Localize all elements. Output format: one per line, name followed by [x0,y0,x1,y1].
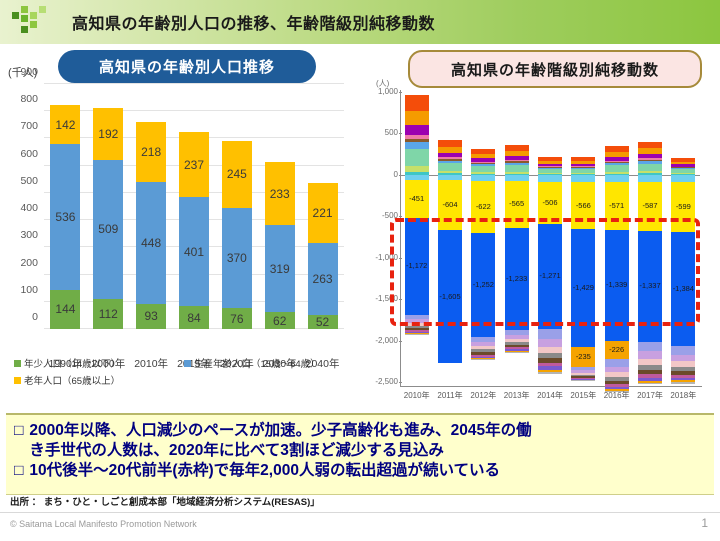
left-chart-segment: 93 [136,304,166,329]
right-chart-segment [438,140,462,147]
left-chart-bar: 23740184 [179,132,209,329]
green-squares-logo-icon [12,6,52,40]
left-chart-y-tick: 500 [0,175,38,187]
footer-page-number: 1 [701,516,708,530]
left-chart-segment: 52 [308,315,338,329]
right-chart-segment [638,383,662,385]
left-chart-value-label: 536 [55,210,75,224]
left-chart-bar: 192509112 [93,108,123,329]
right-chart-segment: -451 [405,180,429,217]
left-chart-population-by-age: (千人) 01002003004005006007008009001425361… [0,60,360,405]
legend-swatch-icon [14,377,21,384]
right-chart-value-label: -451 [405,194,429,203]
slide-header: 高知県の年齢別人口の推移、年齢階級別純移動数 [0,0,720,44]
left-chart-value-label: 93 [144,309,157,323]
right-chart-value-label: -226 [605,345,629,354]
left-chart-value-label: 370 [227,251,247,265]
right-chart-segment [671,175,695,182]
right-chart-value-label: -1,429 [571,283,595,292]
right-chart-segment: -506 [538,182,562,224]
note-bullet-icon: □ [14,421,23,441]
right-chart-bar-negative: -566-1,429-235 [571,175,595,381]
left-chart-bar: 24537076 [222,141,252,329]
left-chart-y-tick: 100 [0,284,38,296]
right-chart-segment [405,95,429,111]
left-chart-value-label: 263 [313,272,333,286]
left-chart-segment: 192 [93,108,123,160]
right-chart-segment [571,175,595,182]
note-line-1: □ 2000年以降、人口減少のペースが加速。少子高齢化も進み、2045年の働 [14,421,706,441]
right-chart-value-label: -587 [638,201,662,210]
right-chart-segment: -1,605 [438,230,462,363]
right-chart-bar-negative: -599-1,384 [671,175,695,384]
left-chart-legend-label: 年少人口（14歳以下） [24,356,120,370]
right-chart-value-label: -506 [538,198,562,207]
right-chart-y-tick: -500 [362,211,398,220]
left-chart-value-label: 233 [270,187,290,201]
right-chart-y-tick: 1,000 [362,87,398,96]
right-chart-segment [405,111,429,125]
right-chart-y-tick: -1,000 [362,253,398,262]
right-chart-segment: -235 [571,347,595,366]
right-chart-bar-positive [438,140,462,175]
right-chart-bar-negative: -604-1,605 [438,175,462,327]
left-chart-legend-label: 老年人口（65歳以上） [24,373,120,387]
left-chart-value-label: 142 [55,118,75,132]
right-chart-value-label: -599 [671,202,695,211]
right-chart-segment: -1,429 [571,229,595,347]
right-chart-segment [538,329,562,339]
right-chart-segment [538,175,562,182]
left-chart-segment: 509 [93,160,123,299]
right-chart-value-label: -566 [571,201,595,210]
right-chart-value-label: -604 [438,200,462,209]
right-chart-segment [671,382,695,383]
left-chart-y-tick: 300 [0,229,38,241]
right-chart-segment [405,334,429,335]
left-chart-value-label: 84 [187,311,200,325]
left-chart-value-label: 76 [230,312,243,326]
left-chart-bar: 22126352 [308,183,338,329]
note-line-3: □ 10代後半～20代前半(赤枠)で毎年2,000人弱の転出超過が続いている [14,461,706,481]
right-chart-value-label: -1,172 [405,261,429,270]
right-chart-y-tick: -2,500 [362,377,398,386]
left-chart-value-label: 218 [141,145,161,159]
right-chart-bar-positive [471,149,495,175]
left-chart-gridline [44,110,344,111]
left-chart-value-label: 192 [98,127,118,141]
left-chart-y-tick: 400 [0,202,38,214]
right-chart-segment [571,380,595,381]
left-chart-legend-item: 老年人口（65歳以上） [14,373,184,387]
page-title: 高知県の年齢別人口の推移、年齢階級別純移動数 [72,10,435,34]
left-chart-value-label: 112 [99,307,118,321]
left-chart-value-label: 509 [98,222,118,236]
source-text: 出所 ： まち・ひと・しごと創成本部「地域経済分析システム(RESAS)」 [10,494,320,508]
left-chart-legend-row: 老年人口（65歳以上） [14,373,354,387]
right-chart-segment: -1,384 [671,232,695,347]
left-chart-legend-item: 生産年齢人口（15歳～64歳） [184,356,344,370]
left-chart-segment: 263 [308,243,338,315]
left-chart-value-label: 62 [273,314,286,328]
note-text-3: 10代後半～20代前半(赤枠)で毎年2,000人弱の転出超過が続いている [29,461,500,481]
left-chart-y-tick: 900 [0,66,38,78]
right-chart-value-label: -1,233 [505,274,529,283]
right-chart-segment [638,351,662,359]
left-chart-segment: 233 [265,162,295,225]
legend-swatch-icon [14,360,21,367]
right-chart-segment: -604 [438,180,462,230]
right-chart-segment [505,352,529,353]
right-chart-segment [538,339,562,347]
left-chart-segment: 448 [136,182,166,304]
slide-footer: © Saitama Local Manifesto Promotion Netw… [0,512,720,541]
right-chart-y-tick: -2,000 [362,336,398,345]
right-chart-segment: -1,233 [505,228,529,330]
left-chart-segment: 319 [265,225,295,312]
right-chart-segment: -226 [605,341,629,360]
right-chart-segment: -587 [638,182,662,231]
right-chart-y-tick: 500 [362,128,398,137]
right-chart-bar-negative: -565-1,233 [505,175,529,353]
right-chart-bar-positive [605,146,629,175]
right-chart-value-label: -1,339 [605,280,629,289]
right-chart-bar-positive [538,157,562,175]
right-chart-segment: -1,252 [471,233,495,337]
right-chart-segment [538,372,562,374]
footer-copyright: © Saitama Local Manifesto Promotion Netw… [10,519,197,529]
right-chart-segment [638,175,662,182]
right-chart-bar-negative: -587-1,337 [638,175,662,385]
right-chart-value-label: -1,605 [438,292,462,301]
right-chart-segment: -1,337 [638,231,662,342]
note-text-2: き手世代の人数は、2020年に比べて3割ほど減少する見込み [29,441,443,461]
right-chart-segment [438,163,462,171]
right-chart-y-tick: -1,500 [362,294,398,303]
right-chart-x-tick: 2018年 [663,390,703,401]
right-chart-segment [471,359,495,360]
left-chart-bar: 21844893 [136,122,166,329]
left-chart-segment: 62 [265,312,295,329]
right-chart-value-label: -1,271 [538,271,562,280]
right-chart-segment [671,346,695,354]
left-chart-segment: 370 [222,208,252,309]
right-chart-bar-positive [671,158,695,175]
right-chart-bar-negative: -622-1,252 [471,175,495,361]
right-chart-segment: -1,172 [405,218,429,315]
right-chart-bar-positive [571,157,595,175]
left-chart-segment: 221 [308,183,338,243]
left-chart-y-tick: 800 [0,93,38,105]
left-chart-segment: 112 [93,299,123,329]
left-chart-segment: 144 [50,290,80,329]
right-chart-bar-positive [638,142,662,175]
right-chart-segment: -571 [605,182,629,229]
left-chart-segment: 84 [179,306,209,329]
right-chart-segment [605,359,629,366]
left-chart-value-label: 52 [316,315,329,329]
left-chart-bar: 142536144 [50,105,80,329]
left-chart-y-tick: 600 [0,148,38,160]
left-chart-bar: 23331962 [265,162,295,329]
right-chart-value-label: -235 [571,352,595,361]
summary-note-box: □ 2000年以降、人口減少のペースが加速。少子高齢化も進み、2045年の働 □… [6,413,714,495]
left-chart-legend-item: 年少人口（14歳以下） [14,356,174,370]
right-chart-segment: -622 [471,181,495,233]
right-chart-bar-negative: -451-1,172 [405,175,429,335]
left-chart-segment: 237 [179,132,209,197]
legend-swatch-icon [184,360,191,367]
right-chart-value-label: -1,384 [671,284,695,293]
left-chart-value-label: 319 [270,262,290,276]
right-chart-value-label: -622 [471,202,495,211]
left-chart-y-tick: 200 [0,257,38,269]
left-chart-segment: 76 [222,308,252,329]
left-chart-y-tick: 700 [0,120,38,132]
right-chart-bar-positive [505,145,529,175]
right-chart-segment: -1,271 [538,224,562,329]
left-chart-plot-area: 0100200300400500600700800900142536144199… [44,84,344,329]
left-chart-segment: 536 [50,144,80,290]
left-chart-value-label: 144 [55,302,75,316]
right-chart-value-label: -1,337 [638,281,662,290]
note-bullet-icon-2: □ [14,461,23,481]
right-chart-value-label: -571 [605,201,629,210]
left-chart-value-label: 221 [313,206,333,220]
right-chart-segment [638,164,662,171]
right-chart-segment: -1,339 [605,230,629,341]
left-chart-value-label: 401 [184,245,204,259]
right-chart-segment [405,149,429,166]
left-chart-legend-label: 生産年齢人口（15歳～64歳） [194,356,320,370]
note-line-2: □ き手世代の人数は、2020年に比べて3割ほど減少する見込み [14,441,706,461]
right-chart-value-label: -565 [505,199,529,208]
right-chart-segment [638,342,662,351]
note-text-1: 2000年以降、人口減少のペースが加速。少子高齢化も進み、2045年の働 [29,421,531,441]
left-chart-value-label: 448 [141,236,161,250]
left-chart-value-label: 237 [184,158,204,172]
right-chart-value-label: -1,252 [471,280,495,289]
right-chart-y-tick: 0 [362,170,398,179]
left-chart-segment: 245 [222,141,252,208]
right-chart-bar-negative: -571-1,339-226 [605,175,629,392]
right-chart-bar-positive [405,95,429,175]
left-chart-segment: 401 [179,197,209,306]
right-chart-segment [405,125,429,135]
right-chart-segment [605,175,629,183]
left-chart-y-tick: 0 [0,311,38,323]
right-chart-net-migration-by-age: (人) 1,0005000-500-1,000-1,500-2,000-2,50… [360,60,720,405]
right-chart-x-axis-line [400,386,702,387]
right-chart-bar-negative: -506-1,271 [538,175,562,374]
right-chart-segment [638,142,662,149]
left-chart-legend: 年少人口（14歳以下）生産年齢人口（15歳～64歳）老年人口（65歳以上） [14,356,354,390]
right-chart-plot-area: 1,0005000-500-1,000-1,500-2,000-2,500-45… [400,92,700,382]
left-chart-segment: 142 [50,105,80,144]
right-chart-segment: -565 [505,181,529,228]
left-chart-legend-row: 年少人口（14歳以下）生産年齢人口（15歳～64歳） [14,356,354,370]
left-chart-value-label: 245 [227,167,247,181]
right-chart-segment [671,355,695,362]
right-chart-segment: -599 [671,182,695,232]
right-chart-segment: -566 [571,182,595,229]
left-chart-gridline [44,83,344,84]
left-chart-segment: 218 [136,122,166,181]
